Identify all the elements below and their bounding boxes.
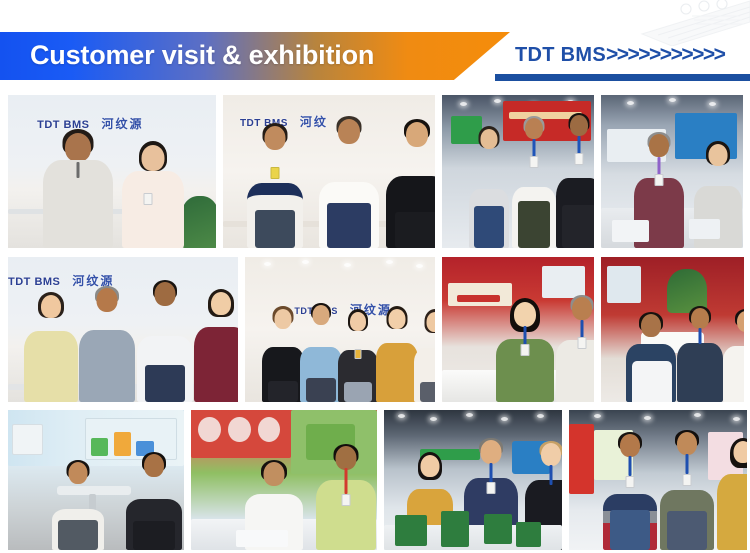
gallery-row-2: TDT BMS河纹源 <box>8 257 742 402</box>
gallery-photo[interactable]: TDT BMS河纹源 <box>245 257 435 402</box>
person <box>135 280 195 402</box>
photo-scene <box>8 410 184 550</box>
gallery-photo[interactable] <box>442 257 594 402</box>
person <box>601 432 659 550</box>
page-title: Customer visit & exhibition <box>30 32 374 80</box>
gallery-photo[interactable] <box>601 257 744 402</box>
photo-scene <box>569 410 747 550</box>
banner-underline-bar <box>495 74 750 81</box>
gallery-row-3 <box>8 410 742 550</box>
gallery-photo[interactable]: TDT BMS河纹源 <box>8 95 216 248</box>
page-header: Customer visit & exhibition TDT BMS>>>>>… <box>0 0 750 90</box>
circuit-board <box>395 515 427 546</box>
person <box>384 119 435 248</box>
document <box>236 530 288 547</box>
brand-chevrons: >>>>>>>>>>> <box>606 43 724 66</box>
title-banner: Customer visit & exhibition TDT BMS>>>>>… <box>0 32 750 80</box>
person <box>22 292 80 402</box>
gallery-photo[interactable] <box>384 410 562 550</box>
customer-visit-exhibition-page: Customer visit & exhibition TDT BMS>>>>>… <box>0 0 750 553</box>
wall-logo-text: TDT BMS <box>8 276 60 288</box>
gallery-photo[interactable] <box>8 410 184 550</box>
photo-scene: TDT BMS河纹 <box>223 95 435 248</box>
photo-scene <box>601 257 744 402</box>
person <box>244 123 306 248</box>
person <box>412 309 435 402</box>
booth-column-red <box>569 424 594 494</box>
brand-name: TDT BMS <box>515 44 606 66</box>
circuit-board <box>516 522 541 547</box>
gallery-photo[interactable] <box>442 95 594 248</box>
photo-scene <box>442 257 594 402</box>
person <box>658 430 716 550</box>
person <box>124 452 184 550</box>
booth-poster <box>607 266 641 304</box>
circuit-board <box>484 514 512 545</box>
gallery-photo[interactable]: TDT BMS河纹 <box>223 95 435 248</box>
gallery-photo[interactable] <box>569 410 747 550</box>
brochure <box>612 220 649 241</box>
gallery-photo[interactable] <box>601 95 743 248</box>
person <box>77 286 137 402</box>
brand-tagline: TDT BMS>>>>>>>>>>> <box>515 32 724 80</box>
booth-screen <box>542 266 585 298</box>
person <box>675 306 725 402</box>
person <box>715 438 747 550</box>
photo-gallery-grid: TDT BMS河纹源 <box>0 92 750 553</box>
person <box>466 126 512 248</box>
chair <box>632 361 672 402</box>
brochure <box>689 219 720 239</box>
poster-circle <box>198 417 220 442</box>
person <box>41 129 115 248</box>
person <box>192 289 238 402</box>
person <box>314 444 377 550</box>
chart-bar <box>91 438 109 456</box>
person <box>554 295 594 402</box>
photo-scene <box>384 410 562 550</box>
photo-scene: TDT BMS河纹源 <box>245 257 435 402</box>
gallery-photo[interactable] <box>191 410 377 550</box>
person <box>50 460 106 550</box>
photo-scene: TDT BMS河纹源 <box>8 257 238 402</box>
gallery-photo[interactable]: TDT BMS河纹源 <box>8 257 238 402</box>
person <box>316 116 382 248</box>
photo-scene <box>191 410 377 550</box>
person <box>494 298 556 402</box>
photo-scene <box>442 95 594 248</box>
gallery-row-1: TDT BMS河纹源 <box>8 95 742 248</box>
booth-monitor <box>12 424 44 455</box>
person <box>509 116 559 248</box>
circuit-board <box>441 511 469 547</box>
poster-circle <box>228 417 250 442</box>
person <box>120 141 186 248</box>
ceiling-lights <box>245 257 435 295</box>
photo-scene <box>601 95 743 248</box>
photo-scene: TDT BMS河纹源 <box>8 95 216 248</box>
person <box>554 113 594 248</box>
person <box>721 309 744 402</box>
